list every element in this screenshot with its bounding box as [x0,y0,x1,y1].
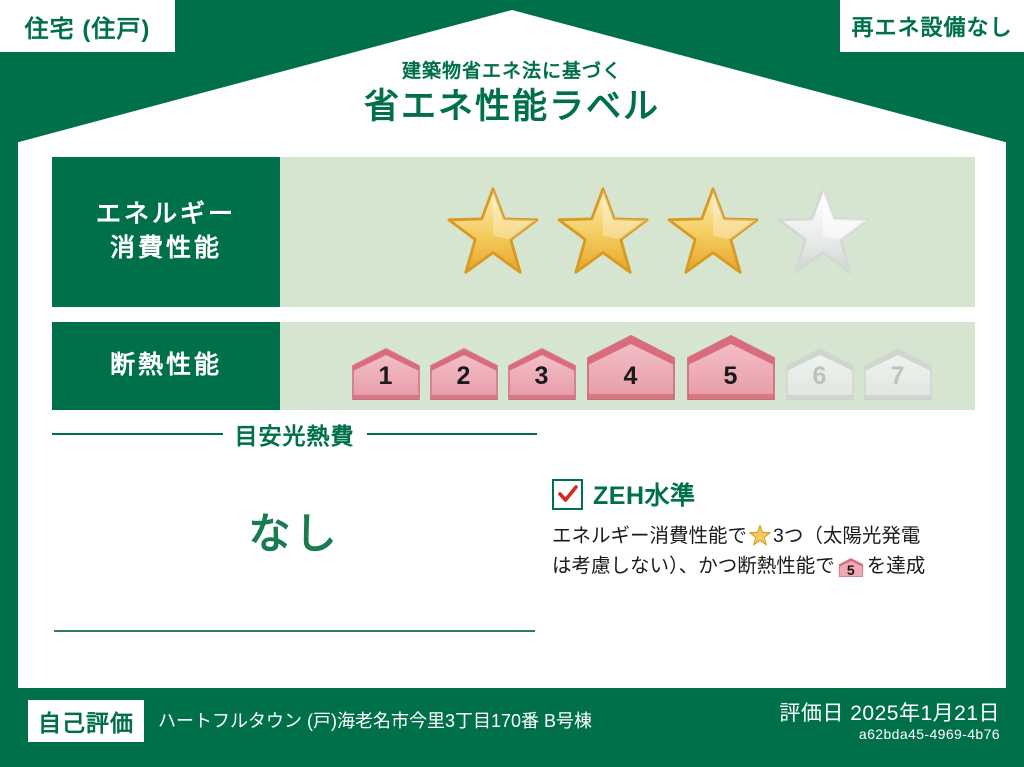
insulation-level-number: 3 [505,362,579,391]
self-evaluation-badge: 自己評価 [28,700,144,742]
utility-cost-heading: 目安光熱費 [52,418,537,450]
insulation-level-2: 2 [427,346,501,400]
badge-building-type: 住宅 (住戸) [0,0,175,52]
zeh-heading: ZEH水準 [552,476,980,512]
title-block: 建築物省エネ法に基づく 省エネ性能ラベル [0,62,1024,127]
insulation-level-5: 5 [683,332,779,400]
title-subtitle: 建築物省エネ法に基づく [0,62,1024,83]
insulation-level-number: 4 [583,362,679,391]
star-empty-icon [776,187,870,277]
energy-performance-stars-panel [280,157,975,307]
evaluation-date: 評価日 2025年1月21日 [779,697,1000,727]
evaluation-id: a62bda45-4969-4b76 [859,726,1000,742]
energy-performance-row: エネルギー 消費性能 [52,157,975,307]
zeh-star-count: 3つ（太陽光発電 [773,525,920,547]
house-level-badge: 5 [838,556,864,586]
energy-performance-label: 住宅 (住戸) 再エネ設備なし 建築物省エネ法に基づく 省エネ性能ラベル エネル… [0,0,1024,767]
insulation-level-3: 3 [505,346,579,400]
insulation-level-scale: 1 2 3 [321,332,935,400]
zeh-title: ZEH水準 [593,476,696,512]
insulation-level-number: 5 [683,362,779,391]
energy-label-line2: 消費性能 [110,232,222,266]
divider-right [367,433,538,435]
zeh-desc-part3: を達成 [867,555,926,577]
checkbox-checked [552,479,583,510]
insulation-level-number: 6 [783,362,857,391]
insulation-level-7: 7 [861,346,935,400]
page-title: 省エネ性能ラベル [0,87,1024,127]
star-filled-icon [556,187,650,277]
insulation-performance-panel: 1 2 3 [280,322,975,410]
utility-cost-bottom-divider [54,630,535,632]
insulation-level-6: 6 [783,346,857,400]
zeh-standard-block: ZEH水準 エネルギー消費性能で 3つ（太陽光発電 は考慮しない）、かつ断熱性能… [552,476,980,586]
zeh-description: エネルギー消費性能で 3つ（太陽光発電 は考慮しない）、かつ断熱性能で 5 を達… [552,521,980,586]
zeh-desc-part1: エネルギー消費性能で [552,525,747,547]
property-name: ハートフルタウン (戸)海老名市今里3丁目170番 B号棟 [158,707,592,733]
insulation-level-number: 7 [861,362,935,391]
utility-cost-value: なし [52,500,537,561]
insulation-level-1: 1 [349,346,423,400]
divider-left [52,433,223,435]
insulation-level-4: 4 [583,332,679,400]
footer: 自己評価 ハートフルタウン (戸)海老名市今里3丁目170番 B号棟 評価日 2… [0,688,1024,767]
zeh-desc-part2: は考慮しない）、かつ断熱性能で [552,555,835,577]
utility-cost-title: 目安光熱費 [223,417,367,451]
star-filled-icon [749,525,771,546]
energy-performance-label-box: エネルギー 消費性能 [52,157,280,307]
check-icon [558,485,578,503]
badge-renewable-energy: 再エネ設備なし [840,0,1024,52]
insulation-performance-row: 断熱性能 [52,322,975,410]
star-filled-icon [446,187,540,277]
insulation-level-number: 2 [427,362,501,391]
insulation-performance-label-box: 断熱性能 [52,322,280,410]
star-filled-icon [666,187,760,277]
house-level-number: 5 [838,560,864,582]
insulation-level-number: 1 [349,362,423,391]
energy-label-line1: エネルギー [96,198,236,232]
star-rating [446,187,870,277]
